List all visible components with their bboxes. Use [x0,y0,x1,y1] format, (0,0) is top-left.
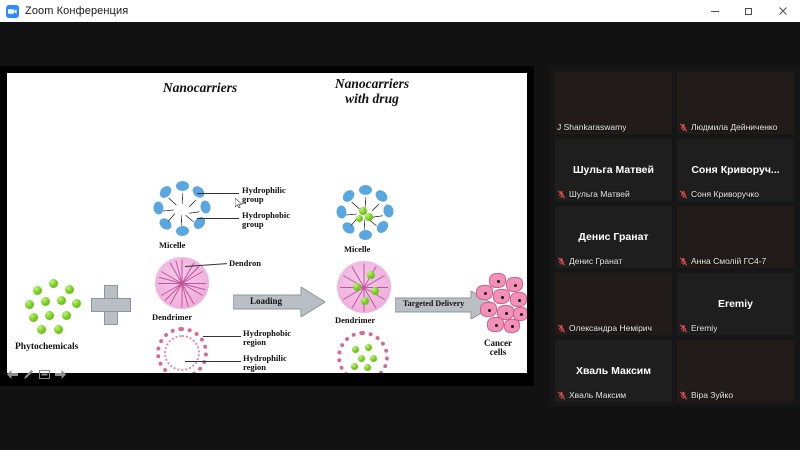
minimize-button[interactable] [698,0,732,22]
pen-icon[interactable] [23,369,34,380]
label-loading: Loading [250,297,282,306]
label-targeted-delivery: Targeted Delivery [403,300,464,308]
microphone-muted-icon [557,190,566,199]
zoom-camera-icon [6,5,19,18]
participant-name-badge: Віра Зуйко [679,390,733,400]
participant-tile[interactable]: J Shankaraswamy [555,72,672,134]
participant-tile[interactable]: Шульга Матвей Шульга Матвей [555,139,672,201]
participant-tile[interactable]: Анна Смолій ГС4-7 [677,206,794,268]
participant-tile[interactable]: Денис Гранат Денис Гранат [555,206,672,268]
meeting-window: Nanocarriers Nanocarriers with drug Phyt… [0,22,800,450]
arrow-left-icon[interactable] [7,369,18,380]
frame-icon[interactable] [39,369,50,380]
microphone-muted-icon [679,190,688,199]
microphone-muted-icon [679,257,688,266]
participant-name-badge: Анна Смолій ГС4-7 [679,256,766,266]
microphone-muted-icon [679,123,688,132]
participant-badge-name: Денис Гранат [569,256,622,266]
microphone-muted-icon [557,257,566,266]
participant-badge-name: Хваль Максим [569,390,626,400]
participant-name-badge: J Shankaraswamy [557,122,626,132]
cancer-cells-diagram [473,273,527,335]
participant-badge-name: Людмила Дейниченко [691,122,777,132]
participant-name-badge: Соня Криворучко [679,189,759,199]
dendrimer-diagram-2 [337,261,391,313]
label-hydrophilic-region: Hydrophilic region [243,354,287,372]
annotation-toolbar[interactable] [4,366,69,382]
restore-button[interactable] [732,0,766,22]
label-micelle-2: Micelle [344,245,370,254]
window-title: Zoom Конференция [25,5,128,17]
micelle-diagram-2 [337,185,393,241]
label-micelle-1: Micelle [159,241,185,250]
close-button[interactable] [766,0,800,22]
participant-tile[interactable]: Людмила Дейниченко [677,72,794,134]
participant-name-badge: Денис Гранат [557,256,622,266]
label-hydrophilic-group: Hydrophilic group [242,186,286,204]
participant-badge-name: Eremiy [691,323,717,333]
participant-grid: J Shankaraswamy Людмила Дейниченко Шульг… [549,66,800,406]
label-dendron: Dendron [229,259,261,268]
participant-tile[interactable]: Віра Зуйко [677,340,794,402]
participant-tile[interactable]: Хваль Максим Хваль Максим [555,340,672,402]
participant-name-badge: Хваль Максим [557,390,626,400]
participant-name-badge: Олександра Немірич [557,323,652,333]
microphone-muted-icon [557,324,566,333]
participant-name-badge: Eremiy [679,323,717,333]
participant-badge-name: Олександра Немірич [569,323,652,333]
presentation-slide: Nanocarriers Nanocarriers with drug Phyt… [7,73,527,373]
label-phytochemicals: Phytochemicals [15,343,78,353]
participant-tile[interactable]: Eremiy Eremiy [677,273,794,335]
participant-badge-name: J Shankaraswamy [557,122,626,132]
label-cancer-cells: Cancer cells [484,339,512,358]
label-dendrimer-2: Dendrimer [335,316,375,325]
participant-name-badge: Шульга Матвей [557,189,630,199]
heading-nanocarriers-with-drug: Nanocarriers with drug [317,77,427,107]
participant-badge-name: Віра Зуйко [691,390,733,400]
arrow-right-icon[interactable] [55,369,66,380]
heading-nanocarriers: Nanocarriers [145,81,255,96]
liposome-diagram-2 [337,331,389,373]
participant-badge-name: Соня Криворучко [691,189,759,199]
plus-sign-icon [91,285,131,325]
micelle-diagram-1 [154,181,210,237]
shared-screen-area[interactable]: Nanocarriers Nanocarriers with drug Phyt… [0,66,534,386]
microphone-muted-icon [679,391,688,400]
window-titlebar: Zoom Конференция [0,0,800,22]
microphone-muted-icon [679,324,688,333]
label-hydrophobic-region: Hydrophobic region [243,329,291,347]
label-hydrophobic-group: Hydrophobic group [242,211,290,229]
participant-tile[interactable]: Соня Криворуч... Соня Криворучко [677,139,794,201]
participant-badge-name: Шульга Матвей [569,189,630,199]
label-dendrimer-1: Dendrimer [152,313,192,322]
participant-name-badge: Людмила Дейниченко [679,122,777,132]
window-controls [698,0,800,22]
liposome-diagram-1 [156,327,208,373]
participant-badge-name: Анна Смолій ГС4-7 [691,256,766,266]
microphone-muted-icon [557,391,566,400]
participant-tile[interactable]: Олександра Немірич [555,273,672,335]
